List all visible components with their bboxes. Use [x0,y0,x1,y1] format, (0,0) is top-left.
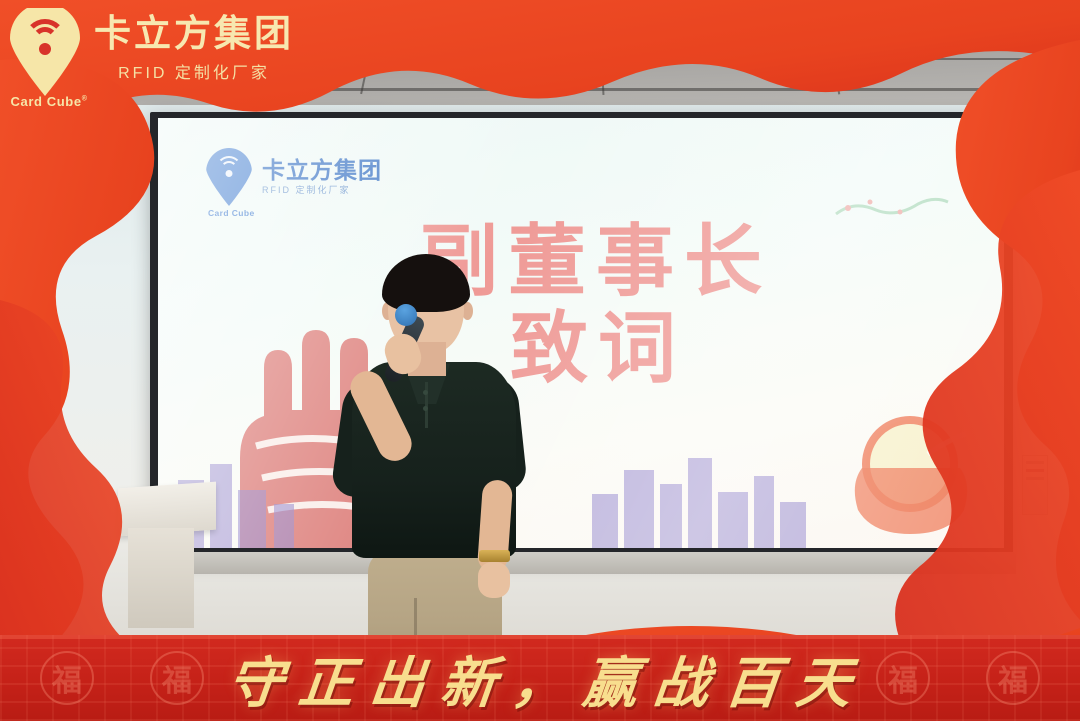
projector-screen: 卡立方集团 RFID 定制化厂家 Card Cube 副董事长 致词 [158,118,1004,548]
banner-slogan: 守正出新，赢战百天 [0,635,1080,721]
wall-poster [1022,455,1048,515]
conference-photo: 卡立方集团 RFID 定制化厂家 Card Cube 副董事长 致词 [0,0,1080,660]
wifi-pin-icon: Card Cube® [10,8,80,96]
podium-body [128,528,194,628]
event-photo-poster: 卡立方集团 RFID 定制化厂家 Card Cube 副董事长 致词 [0,0,1080,721]
slide-wifi-pin-icon [206,148,252,206]
slide-logo-wordmark: Card Cube [208,208,255,218]
speaker [330,250,570,660]
brand-lockup: Card Cube® 卡立方集团 RFID 定制化厂家 [10,8,294,96]
wrist-watch [479,550,510,562]
chinese-drum-icon [832,414,982,540]
screen-shelf [150,552,1016,574]
slide-logo-tagline: RFID 定制化厂家 [262,186,382,195]
slide-title-line2: 致词 [510,305,980,392]
slide-flourish-icon [832,192,952,226]
brand-name: 卡立方集团 [94,15,294,52]
polo-placket [425,382,428,428]
slogan-banner: 福 福 福 福 守正出新，赢战百天 [0,635,1080,721]
speaker-hair [382,254,470,312]
brand-wordmark: Card Cube® [6,94,92,109]
slide-logo-name: 卡立方集团 [262,158,382,182]
registered-mark: ® [82,96,88,103]
brand-tagline: RFID 定制化厂家 [94,59,294,83]
speaker-right-hand [478,562,510,598]
slide-logo: 卡立方集团 RFID 定制化厂家 Card Cube [206,148,382,206]
